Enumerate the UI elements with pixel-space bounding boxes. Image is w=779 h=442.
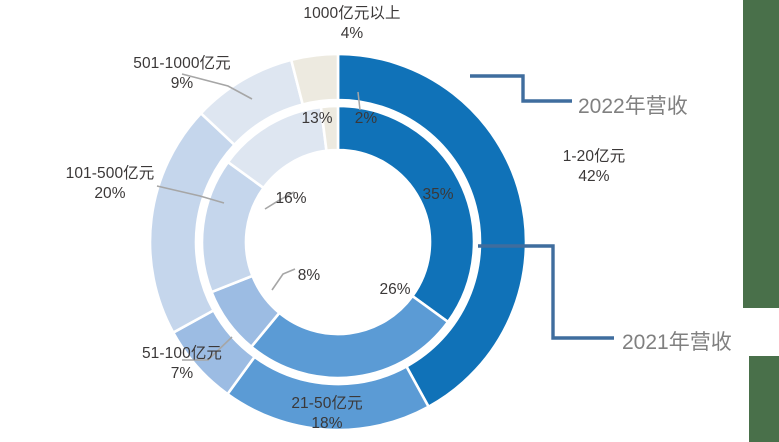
- slice-label-name: 1000亿元以上: [303, 5, 400, 22]
- slice-label-name: 21-50亿元: [291, 395, 362, 412]
- slice-label-name: 51-100亿元: [142, 345, 222, 362]
- slice-label-pct: 9%: [112, 74, 252, 94]
- decorative-panel-top-right: [743, 0, 779, 308]
- slice-label-name: 101-500亿元: [66, 165, 155, 182]
- inner-slice-label-51-100: 8%: [291, 267, 327, 285]
- slice-label-1-20: 1-20亿元 42%: [534, 147, 654, 187]
- slice-label-51-100: 51-100亿元 7%: [112, 344, 252, 384]
- inner-slice-label-21-50: 26%: [373, 281, 417, 299]
- slice-label-1000-plus: 1000亿元以上 4%: [282, 4, 422, 44]
- slice-label-pct: 20%: [40, 184, 180, 204]
- slice-label-pct: 18%: [257, 414, 397, 434]
- inner-slice-label-101-500: 16%: [269, 190, 313, 208]
- slice-label-101-500: 101-500亿元 20%: [40, 164, 180, 204]
- chart-canvas: 1000亿元以上 4% 501-1000亿元 9% 101-500亿元 20% …: [0, 0, 779, 442]
- slice-label-501-1000: 501-1000亿元 9%: [112, 54, 252, 94]
- slice-label-pct: 7%: [112, 364, 252, 384]
- slice-label-21-50: 21-50亿元 18%: [257, 394, 397, 434]
- inner-slice-label-1000-plus: 2%: [346, 110, 386, 128]
- inner-slice-label-501-1000: 13%: [295, 110, 339, 128]
- slice-label-pct: 42%: [534, 167, 654, 187]
- callout-label-2022: 2022年营收: [578, 90, 688, 120]
- slice-label-name: 501-1000亿元: [133, 55, 231, 72]
- slice-label-name: 1-20亿元: [563, 148, 626, 165]
- slice-label-pct: 4%: [282, 24, 422, 44]
- inner-ring-2021[interactable]: [202, 106, 474, 378]
- decorative-panel-bottom-right: [749, 356, 779, 442]
- inner-slice-label-1-20: 35%: [416, 186, 460, 204]
- callout-label-2021: 2021年营收: [622, 326, 732, 356]
